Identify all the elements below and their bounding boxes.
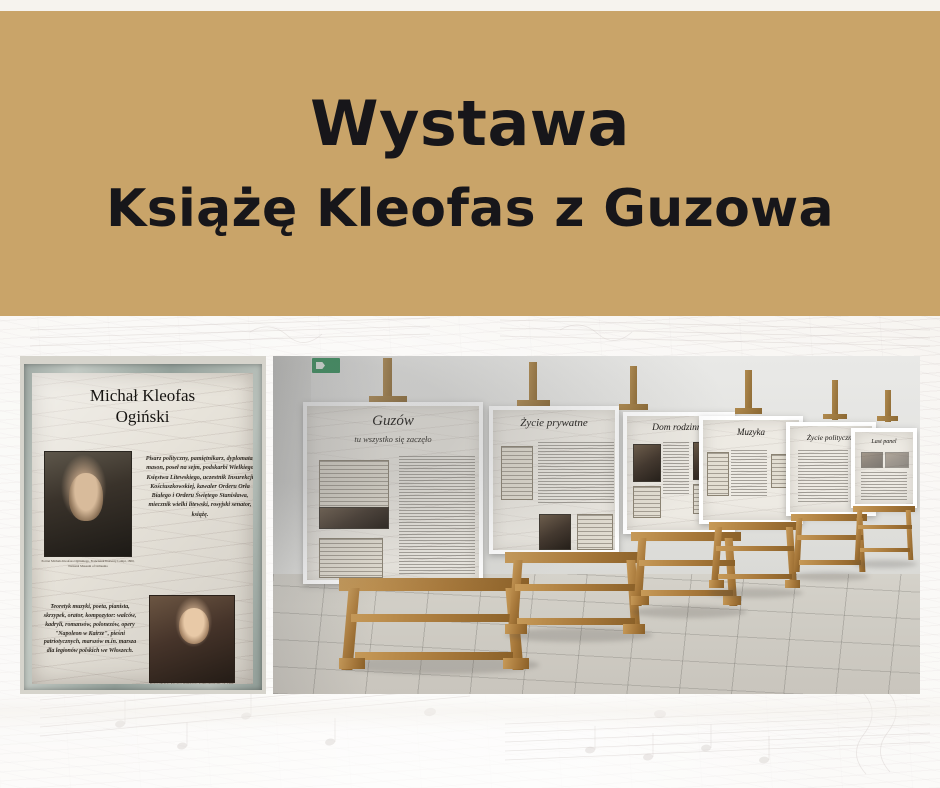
easel-2-cross-upper: [515, 584, 637, 591]
banner-title-line-2: Książę Kleofas z Guzowa: [106, 182, 834, 237]
title-banner: Wystawa Książę Kleofas z Guzowa: [0, 11, 940, 316]
exhibition-panel-6-text-1: [861, 472, 907, 500]
exhibition-panel-6[interactable]: Last panel: [851, 428, 917, 508]
easel-1-top-rail: [339, 578, 529, 591]
poster-sheet: Michał Kleofas Ogiński Portret Michała K…: [32, 373, 253, 684]
exhibition-panel-1-sheet: Guzów tu wszystko się zaczęło: [307, 406, 479, 580]
easel-crossbar-5: [823, 414, 847, 419]
portrait-image-bottom: [149, 595, 235, 683]
exhibition-panel-2-text: [538, 442, 614, 504]
easel-stand-2: [505, 552, 645, 636]
exhibition-panel-4-sheet: Muzyka: [703, 420, 799, 520]
exhibition-panel-6-image-1: [861, 452, 883, 468]
poster-title-line-2: Ogiński: [32, 406, 253, 427]
poster-music-text: Teoretyk muzyki, poeta, pianista, skrzyp…: [42, 603, 138, 656]
easel-2-foot-left: [505, 624, 527, 634]
easel-crossbar-4: [735, 408, 762, 414]
exhibition-panel-3-image-1: [633, 444, 661, 482]
easel-2-top-rail: [505, 552, 645, 563]
easel-1-foot-left: [339, 658, 365, 669]
easel-2-foot-right: [623, 624, 645, 634]
exhibition-panel-2-sheet: Życie prywatne: [493, 410, 615, 550]
photo-row: Michał Kleofas Ogiński Portret Michała K…: [20, 356, 920, 694]
easel-1-cross-upper: [351, 614, 517, 622]
top-cream-strip: [0, 0, 940, 11]
easel-crossbar-3: [619, 404, 648, 410]
easel-1-cross-lower: [355, 652, 513, 660]
portrait-caption-bottom: Portret Michała Kleofasa Ogińskiego, Jos…: [144, 682, 240, 684]
easel-stand-6: [853, 506, 915, 562]
exit-sign-icon: [312, 358, 340, 373]
exhibition-panel-2-title: Życie prywatne: [493, 417, 615, 429]
exhibition-panel-5-text-1: [798, 450, 848, 504]
exhibition-panel-1-document-1: [319, 460, 389, 508]
exhibition-panel-2-document-1: [501, 446, 533, 500]
easel-4-cross-upper: [716, 546, 794, 551]
easel-5-cross-lower: [799, 560, 861, 565]
easel-6-leg-left: [855, 510, 863, 560]
banner-title-line-1: Wystawa: [310, 91, 630, 156]
poster-frame: Michał Kleofas Ogiński Portret Michała K…: [24, 364, 262, 690]
exhibition-panel-1-title: Guzów: [307, 413, 479, 430]
exhibition-panel-6-sheet: Last panel: [855, 432, 913, 504]
poster-title-line-1: Michał Kleofas: [90, 386, 195, 405]
exhibition-panel-1-subtitle: tu wszystko się zaczęło: [307, 434, 479, 444]
exhibition-panel-2-document-2: [577, 514, 613, 550]
easel-6-leg-right: [906, 510, 914, 560]
easel-stand-1: [339, 578, 529, 670]
easel-1-foot-right: [503, 658, 529, 669]
easel-2-cross-lower: [517, 618, 635, 625]
exhibition-panel-6-title: Last panel: [855, 439, 913, 445]
poster-title: Michał Kleofas Ogiński: [32, 385, 253, 427]
poster-photo: Michał Kleofas Ogiński Portret Michała K…: [20, 356, 266, 694]
exhibition-panel-6-image-2: [885, 452, 909, 468]
exhibition-panel-2[interactable]: Życie prywatne: [489, 406, 619, 554]
easel-4-cross-lower: [718, 574, 792, 579]
exhibition-panel-4-document-1: [707, 452, 729, 496]
exhibition-hall-photo: Guzów tu wszystko się zaczęło Życie pryw…: [273, 356, 920, 694]
exhibition-panel-1-text: [399, 456, 475, 574]
exhibition-panel-1-document-2: [319, 538, 383, 578]
easel-stand-4: [709, 522, 799, 590]
exhibition-panel-4-title: Muzyka: [703, 427, 799, 437]
portrait-caption-top: Portret Michała Kleofasa Ogińskiego, Fra…: [40, 559, 136, 569]
exhibition-panel-1[interactable]: Guzów tu wszystko się zaczęło: [303, 402, 483, 584]
easel-6-cross-lower: [860, 548, 910, 552]
exhibition-panel-4-text-1: [731, 450, 767, 498]
easel-4-foot-left: [709, 580, 724, 588]
exhibition-panel-2-image-1: [539, 514, 571, 550]
easel-6-cross-upper: [858, 525, 912, 529]
exhibition-panel-3-document-1: [633, 486, 661, 518]
easel-4-foot-right: [785, 580, 800, 588]
easel-3-foot-left: [631, 596, 649, 605]
hall-scene: Guzów tu wszystko się zaczęło Życie pryw…: [273, 356, 920, 694]
poster-biography-text: Pisarz polityczny, pamiętnikarz, dyploma…: [144, 455, 253, 520]
portrait-image-top: [44, 451, 132, 557]
exhibition-panel-3-text-1: [663, 442, 689, 494]
exhibition-panel-1-image-1: [319, 507, 389, 529]
easel-crossbar-6: [877, 416, 898, 421]
